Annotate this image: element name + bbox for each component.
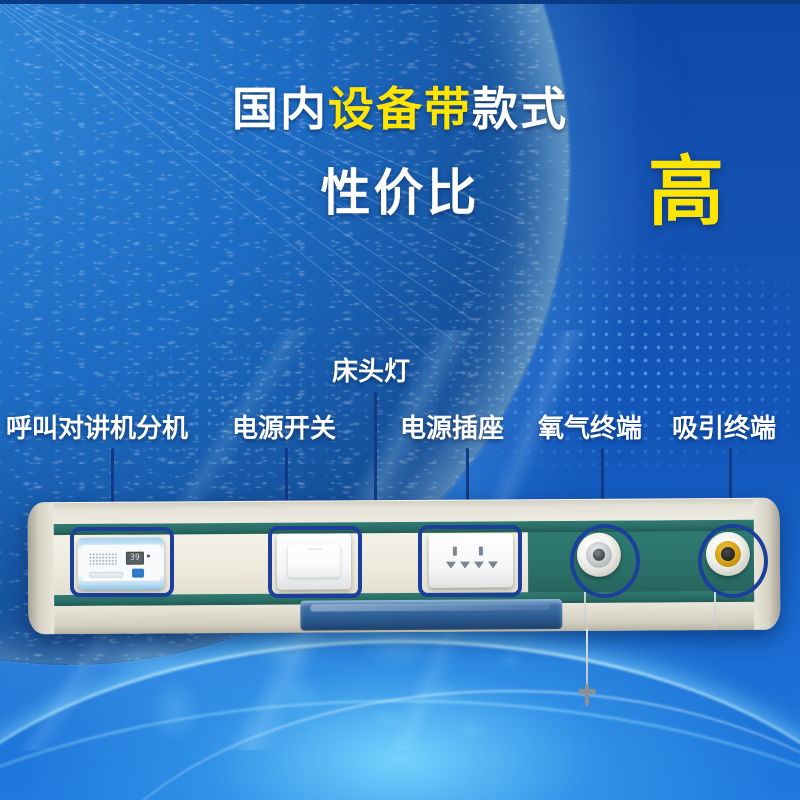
headline-part-3: 款式 <box>472 83 568 135</box>
product-banner: 国内设备带款式 性价比 高 呼叫对讲机分机 电源开关 床头灯 电源插座 氧气终端… <box>0 0 800 800</box>
cord-handle-crossbar <box>578 689 596 694</box>
headline-part-2-highlight: 设备带 <box>328 83 472 135</box>
callout-bed-head-lamp: 床头灯 <box>332 358 410 384</box>
lamp-gloss-highlight <box>310 603 550 611</box>
socket-pin-right-a <box>479 547 483 556</box>
socket-hole-3 <box>474 562 484 569</box>
power-socket-device[interactable] <box>429 533 513 588</box>
panel-end-cap-right <box>754 498 781 630</box>
intercom-display: 39 <box>126 552 144 565</box>
panel-body: 39 <box>28 498 781 635</box>
callout-power-socket: 电源插座 <box>400 415 504 441</box>
callout-nurse-call-intercom: 呼叫对讲机分机 <box>6 415 188 441</box>
headline-primary: 国内设备带款式 <box>0 86 800 132</box>
suction-terminal-outlet[interactable] <box>706 532 750 576</box>
callout-power-switch: 电源开关 <box>232 415 336 441</box>
halftone-dot-field-left <box>60 300 390 500</box>
pull-cord-line[interactable] <box>586 628 588 690</box>
cord-handle-stem <box>585 684 589 706</box>
switch-rocker[interactable] <box>288 544 340 577</box>
socket-hole-2 <box>460 562 470 569</box>
callout-oxygen-terminal: 氧气终端 <box>538 415 642 441</box>
medical-bed-head-unit: 39 <box>28 500 780 632</box>
intercom-call-button[interactable] <box>132 569 144 578</box>
intercom-faceplate: 39 <box>82 544 160 580</box>
pull-cord-handle[interactable] <box>578 684 596 706</box>
intercom-label-slot <box>89 572 123 578</box>
intercom-display-value: 39 <box>127 553 143 563</box>
wire-line <box>0 0 500 271</box>
oxygen-terminal-core <box>593 549 605 561</box>
headline-part-1: 国内 <box>232 83 328 135</box>
speaker-grille-icon <box>89 553 117 566</box>
socket-hole-4 <box>488 561 498 568</box>
bed-head-lamp-diffuser[interactable] <box>300 599 562 631</box>
headline-emphasis-char: 高 <box>648 155 724 231</box>
top-edge-bar <box>0 0 800 4</box>
callout-suction-terminal: 吸引终端 <box>672 415 776 441</box>
suction-terminal-cord <box>714 592 716 628</box>
suction-terminal-core <box>721 547 735 561</box>
power-switch-device[interactable] <box>277 533 351 589</box>
socket-pin-left-a <box>453 547 457 556</box>
nurse-call-intercom-device[interactable]: 39 <box>78 537 164 590</box>
socket-hole-1 <box>446 562 456 569</box>
switch-marking <box>308 549 322 550</box>
indicator-led-icon <box>147 555 150 558</box>
panel-end-cap-left <box>28 502 55 634</box>
oxygen-terminal-outlet[interactable] <box>577 533 621 577</box>
oxygen-terminal-cord <box>584 592 586 626</box>
